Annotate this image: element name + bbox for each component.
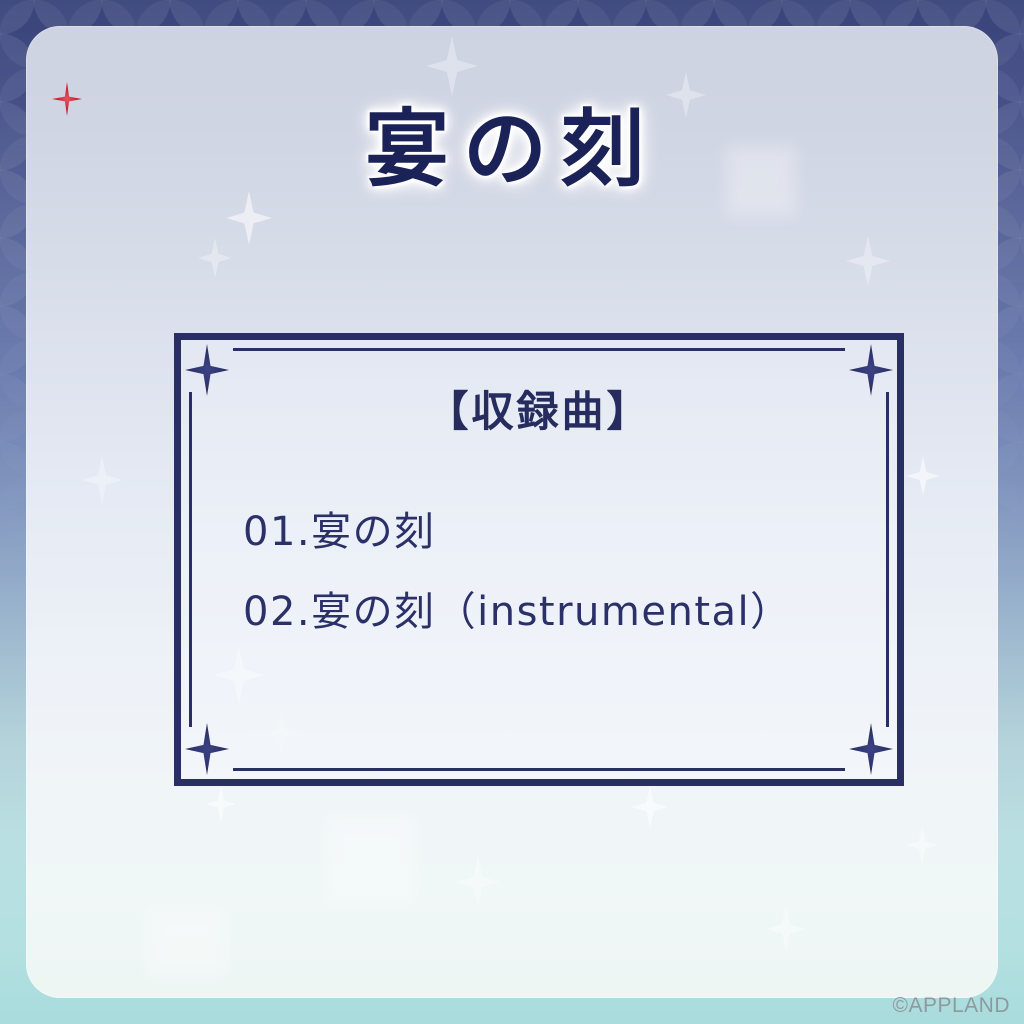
content-card: 宴の刻 【収録曲】 01.宴の刻 02.宴の刻（instrumental） [26,26,998,998]
glow-blob [146,906,226,976]
list-item: 01.宴の刻 [243,512,867,552]
frame-inner-rule-top [233,348,845,351]
sparkle-icon [456,856,500,908]
frame-inner-rule-left [189,392,192,727]
tracklist-frame: 【収録曲】 01.宴の刻 02.宴の刻（instrumental） [174,333,904,786]
title-area: 宴の刻 [26,96,998,201]
corner-star-icon-bottom-left [185,723,229,775]
sparkle-icon [632,786,668,828]
sparkle-icon [906,456,940,496]
sparkle-icon [426,36,478,96]
sparkle-icon [906,826,938,864]
sparkle-icon [82,456,122,504]
list-item: 02.宴の刻（instrumental） [243,592,867,632]
frame-inner-rule-right [886,392,889,727]
artwork-stage: 宴の刻 【収録曲】 01.宴の刻 02.宴の刻（instrumental） ©A… [0,0,1024,1024]
title-sparkle-icon [52,82,82,116]
tracklist-heading: 【収録曲】 [181,378,897,439]
page-title: 宴の刻 [365,96,659,201]
sparkle-icon [766,906,806,952]
sparkle-icon [198,238,232,278]
glow-blob [326,816,416,906]
copyright-watermark: ©APPLAND [892,994,1010,1018]
track-list: 01.宴の刻 02.宴の刻（instrumental） [243,512,867,672]
sparkle-icon [206,786,236,822]
frame-inner-rule-bottom [233,768,845,771]
sparkle-icon [846,236,890,286]
corner-star-icon-bottom-right [849,723,893,775]
